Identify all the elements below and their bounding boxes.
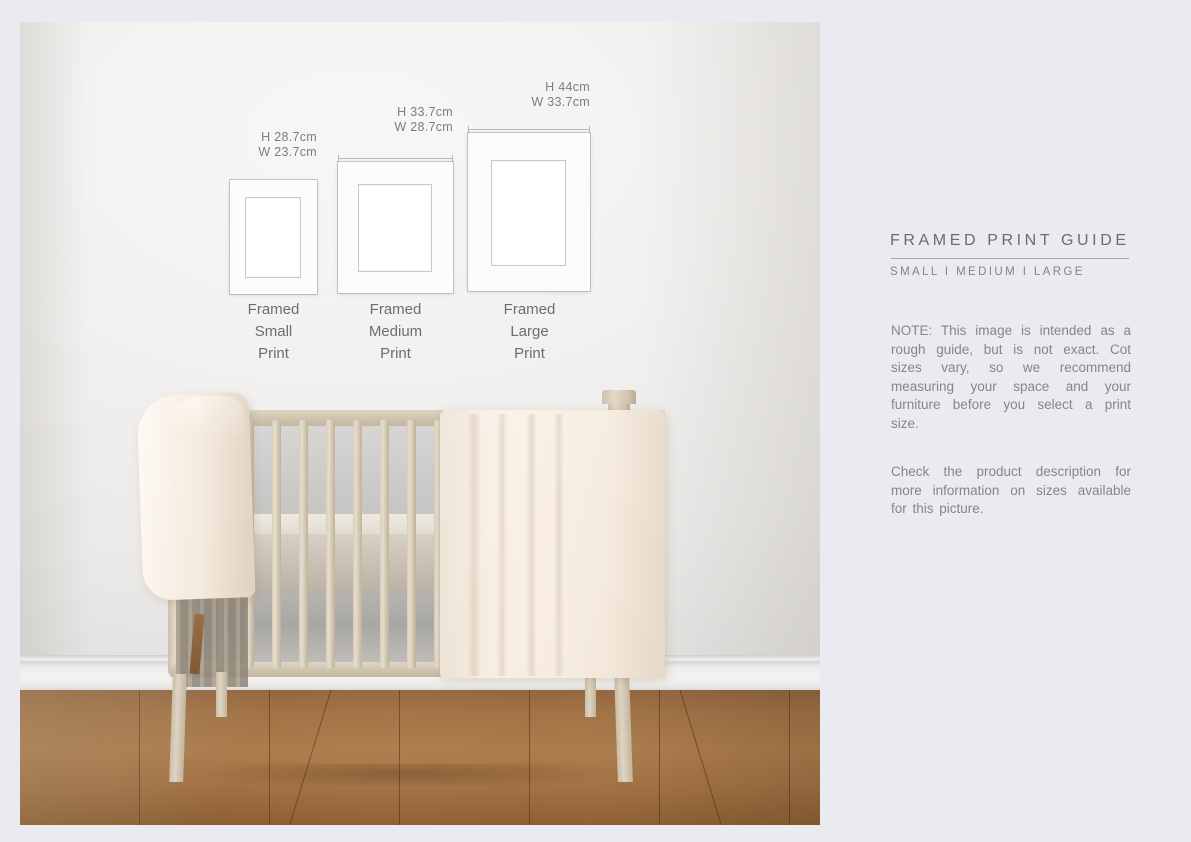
page-title: FRAMED PRINT GUIDE	[890, 232, 1130, 250]
cot-leg-rear-left	[216, 672, 227, 717]
cot-throw-right-shade	[440, 410, 665, 678]
cot-slat	[299, 420, 308, 668]
cot-slat	[272, 420, 281, 668]
title-divider	[891, 258, 1129, 259]
cot-slat	[326, 420, 335, 668]
baby-cot	[20, 22, 820, 825]
cot-slat	[380, 420, 389, 668]
guide-note-secondary: Check the product description for more i…	[891, 463, 1131, 519]
cot-leg-rear-right	[585, 672, 596, 717]
page-root: H 28.7cm W 23.7cm Framed Small Print H 3…	[0, 0, 1191, 842]
guide-note-primary: NOTE: This image is intended as a rough …	[891, 322, 1131, 434]
page-subtitle: SMALL I MEDIUM I LARGE	[890, 266, 1085, 278]
cot-throw-left-shade	[136, 392, 255, 601]
cot-slat	[407, 420, 416, 668]
print-guide-panel: FRAMED PRINT GUIDE SMALL I MEDIUM I LARG…	[890, 0, 1150, 842]
cot-floor-shadow	[160, 764, 650, 786]
cot-post-right-finial	[602, 390, 636, 404]
cot-slat	[353, 420, 362, 668]
room-mockup-photo: H 28.7cm W 23.7cm Framed Small Print H 3…	[20, 22, 820, 825]
